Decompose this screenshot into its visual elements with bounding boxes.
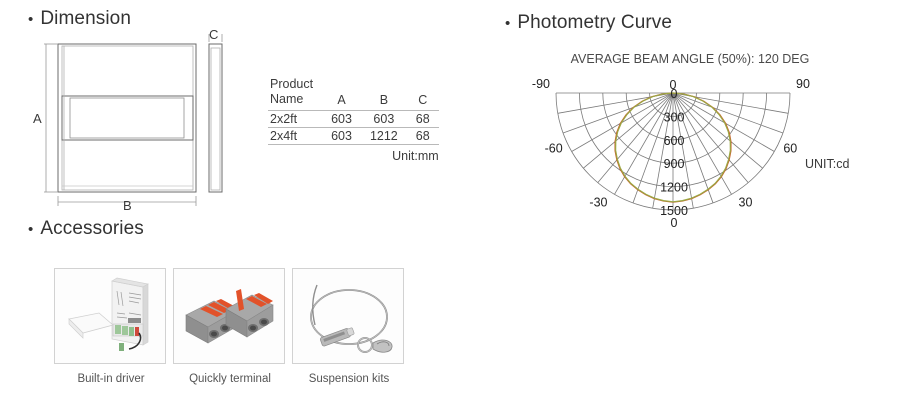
cell-a: 603 xyxy=(322,110,361,127)
unit-note: Unit:mm xyxy=(268,149,439,163)
photometry-section-heading: • Photometry Curve xyxy=(505,12,672,34)
radial-tick-300: 300 xyxy=(664,110,685,124)
dimension-svg: A B C xyxy=(28,30,243,210)
cell-b: 1212 xyxy=(361,127,407,144)
angle-tick-60: 60 xyxy=(783,142,797,156)
accessory-image-frame xyxy=(173,268,285,364)
accessories-section-heading: • Accessories xyxy=(28,218,144,240)
accessory-item-quickly-terminal[interactable]: Quickly terminal xyxy=(173,268,287,385)
chart-unit-label: UNIT:cd xyxy=(805,157,850,171)
accessory-caption: Quickly terminal xyxy=(173,373,287,385)
accessories-title: Accessories xyxy=(40,218,144,240)
suspension-cable-photo xyxy=(293,269,403,363)
dimension-drawing: A B C xyxy=(28,30,243,215)
cell-b: 603 xyxy=(361,110,407,127)
cell-a: 603 xyxy=(322,127,361,144)
accessory-item-built-in-driver[interactable]: Built-in driver xyxy=(54,268,168,385)
angle-tick-0: 0 xyxy=(670,78,677,92)
cell-c: 68 xyxy=(407,127,439,144)
table-row: 2x2ft 603 603 68 xyxy=(268,110,439,127)
col-header-b: B xyxy=(361,76,407,110)
angle-tick-90: 90 xyxy=(796,77,810,91)
radial-tick-1200: 1200 xyxy=(660,181,688,195)
dimension-section-heading: • Dimension xyxy=(28,8,131,30)
table-header: Product Name A B C xyxy=(268,76,439,110)
angle-tick-30: 30 xyxy=(739,195,753,209)
polar-plot-svg: AVERAGE BEAM ANGLE (50%): 120 DEG 030060… xyxy=(505,45,875,230)
radial-tick-900: 900 xyxy=(664,157,685,171)
accessories-list: Built-in driver xyxy=(54,268,406,385)
angle-tick--60: -60 xyxy=(545,142,563,156)
bullet-icon: • xyxy=(505,16,510,31)
angle-tick--30: -30 xyxy=(589,195,607,209)
dimension-label-a: A xyxy=(33,111,42,126)
col-header-c: C xyxy=(407,76,439,110)
accessory-caption: Suspension kits xyxy=(292,373,406,385)
bullet-icon: • xyxy=(28,222,33,237)
led-driver-photo xyxy=(55,269,165,363)
accessory-caption: Built-in driver xyxy=(54,373,168,385)
cell-product-name: 2x2ft xyxy=(268,110,322,127)
chart-title: AVERAGE BEAM ANGLE (50%): 120 DEG xyxy=(571,52,810,66)
dimension-spec-table: Product Name A B C 2x2ft 603 603 68 2x4f… xyxy=(268,76,439,145)
accessory-image-frame xyxy=(54,268,166,364)
dimension-label-c: C xyxy=(209,30,218,42)
accessory-item-suspension-kits[interactable]: Suspension kits xyxy=(292,268,406,385)
dimension-spec-table-wrap: Product Name A B C 2x2ft 603 603 68 2x4f… xyxy=(268,76,439,163)
bullet-icon: • xyxy=(28,12,33,27)
wire-connector-photo xyxy=(174,269,284,363)
photometry-title: Photometry Curve xyxy=(517,12,672,34)
dimension-label-b: B xyxy=(123,198,132,210)
angle-tick--90: -90 xyxy=(532,77,550,91)
col-header-product-name: Product Name xyxy=(268,76,322,110)
photometry-polar-chart: AVERAGE BEAM ANGLE (50%): 120 DEG 030060… xyxy=(505,45,875,235)
col-header-a: A xyxy=(322,76,361,110)
cell-c: 68 xyxy=(407,110,439,127)
cell-product-name: 2x4ft xyxy=(268,127,322,144)
table-body: 2x2ft 603 603 68 2x4ft 603 1212 68 xyxy=(268,110,439,144)
dimension-title: Dimension xyxy=(40,8,131,30)
table-row: 2x4ft 603 1212 68 xyxy=(268,127,439,144)
radial-tick-600: 600 xyxy=(664,134,685,148)
radial-outer-label: 0 xyxy=(671,216,678,230)
accessory-image-frame xyxy=(292,268,404,364)
